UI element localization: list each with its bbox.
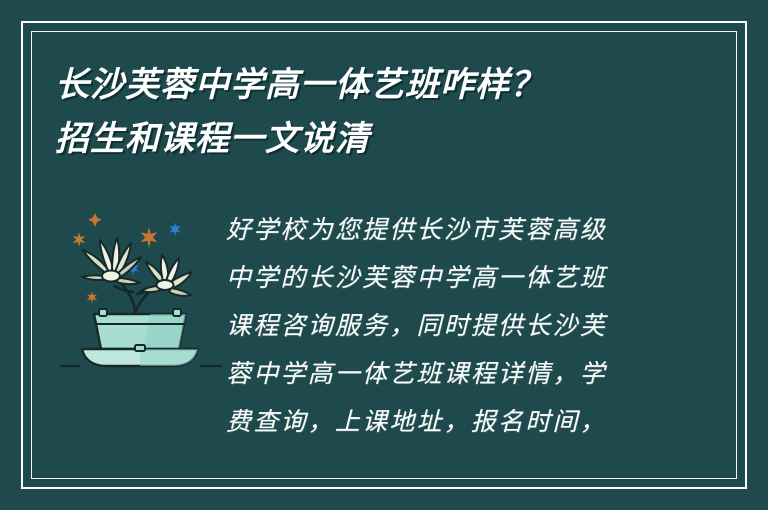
flower-head-right xyxy=(141,255,192,296)
flower-head-left xyxy=(82,238,141,284)
sparkle-icon-blue-1 xyxy=(169,222,181,236)
sparkle-icon-orange-3 xyxy=(141,227,158,248)
sparkle-icon-orange-2 xyxy=(73,232,85,247)
potted-flowers-illustration xyxy=(55,196,225,374)
body-text: 好学校为您提供长沙市芙蓉高级 中学的长沙芙蓉中学高一体艺班 课程咨询服务，同时提… xyxy=(226,206,666,446)
title-line-2: 招生和课程一文说清 xyxy=(55,112,695,166)
body-line-3: 课程咨询服务，同时提供长沙芙 xyxy=(226,302,666,350)
poster-canvas: 长沙芙蓉中学高一体艺班咋样？ 招生和课程一文说清 xyxy=(0,0,768,510)
body-line-2: 中学的长沙芙蓉中学高一体艺班 xyxy=(226,254,666,302)
body-line-5: 费查询，上课地址，报名时间， xyxy=(226,398,666,446)
title-line-1: 长沙芙蓉中学高一体艺班咋样？ xyxy=(55,58,695,112)
body-line-4: 蓉中学高一体艺班课程详情，学 xyxy=(226,350,666,398)
sparkle-icon-orange-4 xyxy=(87,291,97,304)
sparkle-icon-orange-1 xyxy=(88,213,102,227)
page-title: 长沙芙蓉中学高一体艺班咋样？ 招生和课程一文说清 xyxy=(55,58,695,166)
flower-pot xyxy=(82,309,198,366)
body-line-1: 好学校为您提供长沙市芙蓉高级 xyxy=(226,206,666,254)
